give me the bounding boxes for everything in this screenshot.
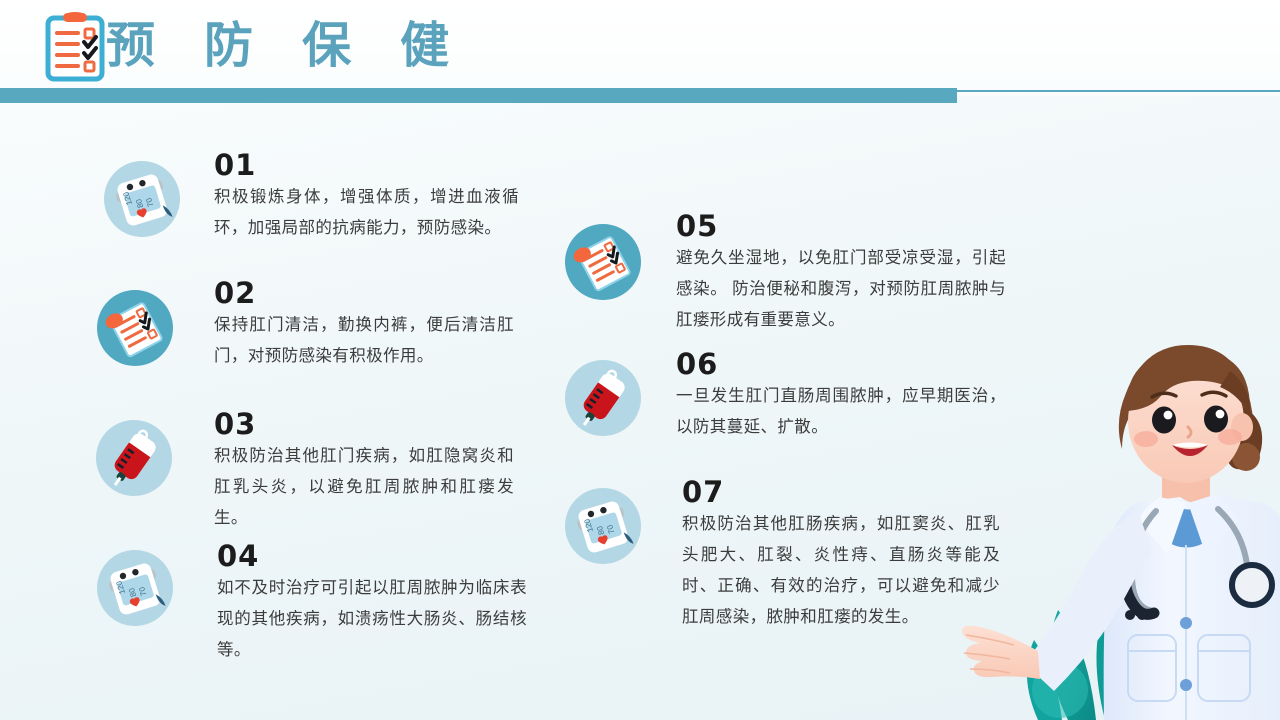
item-body: 01 积极锻炼身体，增强体质，增进血液循环，加强局部的抗病能力，预防感染。 — [214, 150, 519, 243]
blood-bag-icon — [96, 420, 172, 496]
item-number: 02 — [214, 278, 514, 309]
blood-bag-icon — [565, 360, 641, 436]
blood-pressure-monitor-icon: 120 80 70 — [97, 550, 173, 626]
item-badge — [96, 420, 172, 496]
blood-pressure-monitor-icon: 120 80 70 — [104, 161, 180, 237]
item-badge — [565, 224, 641, 300]
item-text: 保持肛门清洁，勤换内裤，便后清洁肛门，对预防感染有积极作用。 — [214, 309, 514, 371]
blood-pressure-monitor-icon: 120 80 70 — [565, 488, 641, 564]
item-body: 03 积极防治其他肛门疾病，如肛隐窝炎和肛乳头炎，以避免肛周脓肿和肛瘘发生。 — [214, 409, 514, 533]
clipboard-checklist-icon — [97, 290, 173, 366]
item-body: 05 避免久坐湿地，以免肛门部受凉受湿，引起感染。 防治便秘和腹泻，对预防肛周脓… — [676, 211, 1006, 335]
item-number: 04 — [217, 541, 527, 572]
item-number: 03 — [214, 409, 514, 440]
item-body: 02 保持肛门清洁，勤换内裤，便后清洁肛门，对预防感染有积极作用。 — [214, 278, 514, 371]
item-body: 04 如不及时治疗可引起以肛周脓肿为临床表现的其他疾病，如溃疡性大肠炎、肠结核等… — [217, 541, 527, 665]
item-badge: 120 80 70 — [104, 161, 180, 237]
female-doctor-illustration — [930, 335, 1280, 720]
item-badge — [97, 290, 173, 366]
page-title: 预 防 保 健 — [106, 8, 465, 84]
item-text: 避免久坐湿地，以免肛门部受凉受湿，引起感染。 防治便秘和腹泻，对预防肛周脓肿与肛… — [676, 242, 1006, 335]
header-accent-bar — [0, 88, 957, 103]
item-text: 如不及时治疗可引起以肛周脓肿为临床表现的其他疾病，如溃疡性大肠炎、肠结核等。 — [217, 572, 527, 665]
clipboard-checklist-icon — [565, 224, 641, 300]
item-text: 积极锻炼身体，增强体质，增进血液循环，加强局部的抗病能力，预防感染。 — [214, 181, 519, 243]
item-text: 积极防治其他肛门疾病，如肛隐窝炎和肛乳头炎，以避免肛周脓肿和肛瘘发生。 — [214, 440, 514, 533]
item-badge: 120 80 70 — [97, 550, 173, 626]
item-number: 05 — [676, 211, 1006, 242]
item-badge: 120 80 70 — [565, 488, 641, 564]
slide-header: 预 防 保 健 — [0, 0, 1280, 96]
clipboard-checklist-icon — [42, 11, 108, 83]
item-badge — [565, 360, 641, 436]
slide-canvas: 预 防 保 健 120 80 70 0 — [0, 0, 1280, 720]
item-number: 01 — [214, 150, 519, 181]
header-accent-line — [955, 90, 1280, 92]
